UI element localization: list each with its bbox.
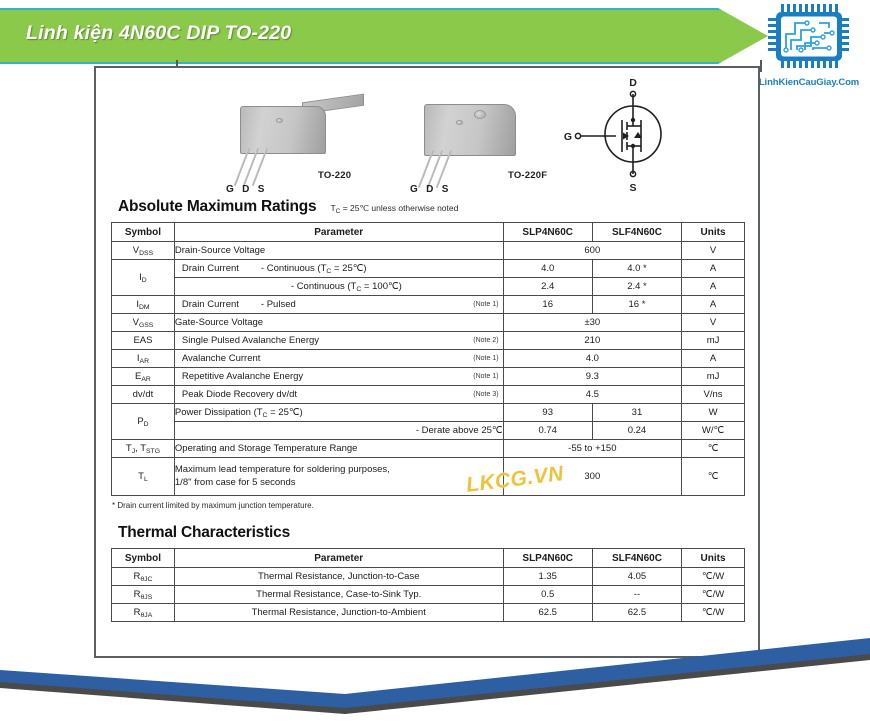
col-parameter: Parameter: [174, 223, 503, 242]
abs-max-footnote: * Drain current limited by maximum junct…: [112, 501, 748, 510]
row-parameter: Peak Diode Recovery dv/dt (Note 3): [174, 386, 503, 404]
row-parameter: Thermal Resistance, Junction-to-Case: [174, 568, 503, 586]
table-row: EAS Single Pulsed Avalanche Energy (Note…: [112, 332, 745, 350]
row-symbol: RθJA: [112, 604, 175, 622]
row-value-a: 4.0: [503, 260, 592, 278]
row-value-b: 31: [592, 404, 681, 422]
row-parameter: Drain-Source Voltage: [174, 242, 503, 260]
row-value-a: 93: [503, 404, 592, 422]
row-parameter: Repetitive Avalanche Energy (Note 1): [174, 368, 503, 386]
row-value-span: 600: [503, 242, 682, 260]
row-parameter: Thermal Resistance, Case-to-Sink Typ.: [174, 586, 503, 604]
row-parameter-line1: Maximum lead temperature for soldering p…: [175, 464, 503, 477]
abs-max-condition: TC = 25℃ unless otherwise noted: [330, 203, 458, 215]
row-value-a: 0.74: [503, 422, 592, 440]
to220f-drawing: TO-220F G D S: [410, 96, 565, 194]
schematic-gate-label: G: [564, 131, 572, 143]
thermal-section-header: Thermal Characteristics: [118, 524, 748, 542]
row-value-a: 2.4: [503, 278, 592, 296]
row-parameter: - Derate above 25℃: [174, 422, 503, 440]
row-value-b: 62.5: [592, 604, 681, 622]
table-row: TL Maximum lead temperature for solderin…: [112, 458, 745, 496]
microchip-icon: [767, 4, 851, 76]
row-units: ℃: [682, 440, 745, 458]
to220-pins: G D S: [226, 184, 267, 195]
row-value-span: 210: [503, 332, 682, 350]
table-row: IDM Drain Current - Pulsed (Note 1) 16 1…: [112, 296, 745, 314]
schematic-source-label: S: [629, 182, 636, 194]
abs-max-title: Absolute Maximum Ratings: [118, 198, 316, 216]
row-units: mJ: [682, 368, 745, 386]
row-units: W/℃: [682, 422, 745, 440]
row-symbol: VGSS: [112, 314, 175, 332]
row-value-b: 4.0 *: [592, 260, 681, 278]
abs-max-section-header: Absolute Maximum Ratings TC = 25℃ unless…: [118, 198, 748, 216]
row-units: A: [682, 296, 745, 314]
row-symbol: ID: [112, 260, 175, 296]
row-note: (Note 2): [473, 337, 498, 344]
row-symbol: dv/dt: [112, 386, 175, 404]
thermal-title: Thermal Characteristics: [118, 524, 290, 542]
row-parameter: Operating and Storage Temperature Range: [174, 440, 503, 458]
mosfet-symbol-svg: D G S: [550, 74, 700, 194]
row-symbol: EAR: [112, 368, 175, 386]
bottom-ribbon: [0, 630, 870, 720]
table-row: VDSS Drain-Source Voltage 600 V: [112, 242, 745, 260]
package-diagrams: TO-220 G D S TO-220F G D S: [110, 74, 748, 194]
col-slp4n60c: SLP4N60C: [503, 223, 592, 242]
row-symbol: TJ, TSTG: [112, 440, 175, 458]
row-symbol: PD: [112, 404, 175, 440]
row-value-span: 9.3: [503, 368, 682, 386]
mosfet-schematic: D G S: [550, 74, 700, 194]
col-slp4n60c: SLP4N60C: [503, 549, 592, 568]
row-value-a: 62.5: [503, 604, 592, 622]
row-symbol: IAR: [112, 350, 175, 368]
row-symbol: RθJC: [112, 568, 175, 586]
row-units: ℃/W: [682, 604, 745, 622]
row-parameter: Avalanche Current (Note 1): [174, 350, 503, 368]
row-value-a: 1.35: [503, 568, 592, 586]
row-value-b: 2.4 *: [592, 278, 681, 296]
table-row: TJ, TSTG Operating and Storage Temperatu…: [112, 440, 745, 458]
col-units: Units: [682, 223, 745, 242]
row-symbol: EAS: [112, 332, 175, 350]
thermal-characteristics-table: Symbol Parameter SLP4N60C SLF4N60C Units…: [111, 548, 745, 622]
row-units: V/ns: [682, 386, 745, 404]
to220-label: TO-220: [318, 170, 351, 181]
row-units: A: [682, 278, 745, 296]
bottom-ribbon-svg: [0, 630, 870, 720]
table-row: IAR Avalanche Current (Note 1) 4.0 A: [112, 350, 745, 368]
row-parameter-line2: 1/8" from case for 5 seconds: [175, 477, 503, 490]
to220-drawing: TO-220 G D S: [226, 96, 376, 194]
row-note: (Note 1): [473, 355, 498, 362]
table-row: - Continuous (TC = 100℃) 2.4 2.4 * A: [112, 278, 745, 296]
row-parameter: Drain Current - Pulsed (Note 1): [174, 296, 503, 314]
absolute-maximum-ratings-table: Symbol Parameter SLP4N60C SLF4N60C Units…: [111, 222, 745, 496]
header-banner: Linh kiện 4N60C DIP TO-220: [0, 8, 768, 64]
table-header-row: Symbol Parameter SLP4N60C SLF4N60C Units: [112, 549, 745, 568]
table-row: RθJC Thermal Resistance, Junction-to-Cas…: [112, 568, 745, 586]
row-value-a: 16: [503, 296, 592, 314]
row-value-b: 0.24: [592, 422, 681, 440]
datasheet-panel: TO-220 G D S TO-220F G D S: [94, 66, 760, 658]
row-units: ℃: [682, 458, 745, 496]
row-symbol: TL: [112, 458, 175, 496]
row-units: ℃/W: [682, 586, 745, 604]
row-units: W: [682, 404, 745, 422]
col-slf4n60c: SLF4N60C: [592, 549, 681, 568]
table-header-row: Symbol Parameter SLP4N60C SLF4N60C Units: [112, 223, 745, 242]
table-row: RθJA Thermal Resistance, Junction-to-Amb…: [112, 604, 745, 622]
row-symbol: IDM: [112, 296, 175, 314]
row-parameter: Drain Current - Continuous (TC = 25℃): [174, 260, 503, 278]
row-note: (Note 3): [473, 391, 498, 398]
row-parameter: Maximum lead temperature for soldering p…: [174, 458, 503, 496]
row-units: mJ: [682, 332, 745, 350]
row-value-span: 4.0: [503, 350, 682, 368]
row-note: (Note 1): [473, 301, 498, 308]
table-row: RθJS Thermal Resistance, Case-to-Sink Ty…: [112, 586, 745, 604]
row-parameter: Single Pulsed Avalanche Energy (Note 2): [174, 332, 503, 350]
row-symbol: RθJS: [112, 586, 175, 604]
table-row: PD Power Dissipation (TC = 25℃) 93 31 W: [112, 404, 745, 422]
row-parameter: Gate-Source Voltage: [174, 314, 503, 332]
row-units: A: [682, 350, 745, 368]
logo-caption: LinhKienCauGiay.Com: [756, 77, 862, 88]
page-title: Linh kiện 4N60C DIP TO-220: [26, 22, 291, 45]
col-units: Units: [682, 549, 745, 568]
row-value-span: -55 to +150: [503, 440, 682, 458]
row-parameter: - Continuous (TC = 100℃): [174, 278, 503, 296]
site-logo[interactable]: LinhKienCauGiay.Com: [756, 4, 862, 88]
row-value-b: --: [592, 586, 681, 604]
row-parameter: Thermal Resistance, Junction-to-Ambient: [174, 604, 503, 622]
to220f-label: TO-220F: [508, 170, 547, 181]
row-value-span: 4.5: [503, 386, 682, 404]
table-row: EAR Repetitive Avalanche Energy (Note 1)…: [112, 368, 745, 386]
row-value-b: 4.05: [592, 568, 681, 586]
schematic-drain-label: D: [629, 77, 637, 89]
row-value-a: 0.5: [503, 586, 592, 604]
row-symbol: VDSS: [112, 242, 175, 260]
row-value-span: ±30: [503, 314, 682, 332]
table-row: ID Drain Current - Continuous (TC = 25℃)…: [112, 260, 745, 278]
col-symbol: Symbol: [112, 549, 175, 568]
row-value-span: 300: [503, 458, 682, 496]
col-symbol: Symbol: [112, 223, 175, 242]
row-parameter: Power Dissipation (TC = 25℃): [174, 404, 503, 422]
table-row: VGSS Gate-Source Voltage ±30 V: [112, 314, 745, 332]
row-units: A: [682, 260, 745, 278]
row-units: V: [682, 314, 745, 332]
col-slf4n60c: SLF4N60C: [592, 223, 681, 242]
table-row: - Derate above 25℃ 0.74 0.24 W/℃: [112, 422, 745, 440]
microchip-icon-svg: [767, 4, 851, 76]
col-parameter: Parameter: [174, 549, 503, 568]
table-row: dv/dt Peak Diode Recovery dv/dt (Note 3)…: [112, 386, 745, 404]
row-units: ℃/W: [682, 568, 745, 586]
row-units: V: [682, 242, 745, 260]
row-note: (Note 1): [473, 373, 498, 380]
to220f-pins: G D S: [410, 184, 451, 195]
row-value-b: 16 *: [592, 296, 681, 314]
